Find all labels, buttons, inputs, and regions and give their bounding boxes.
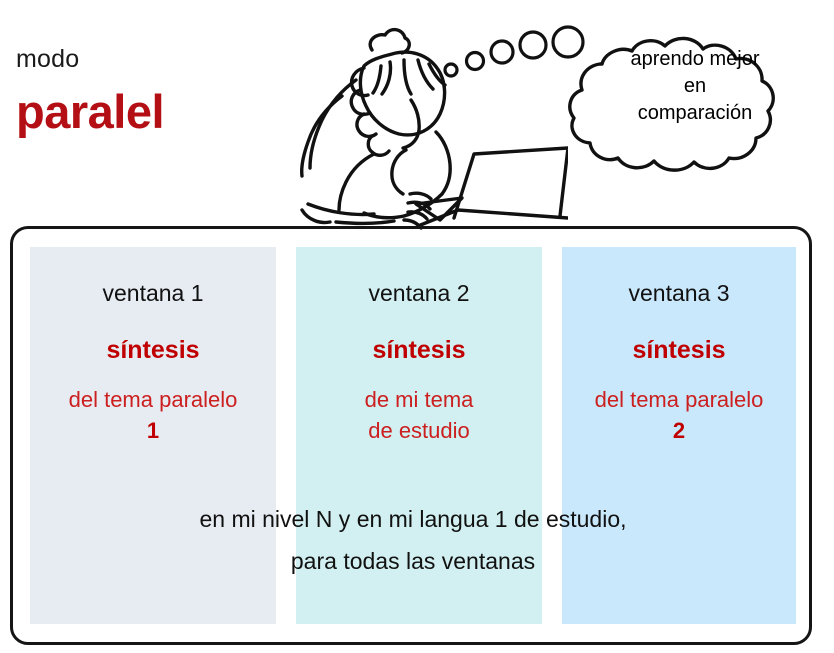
column-3-number: 2	[562, 415, 796, 446]
column-2-title: ventana 2	[296, 279, 542, 307]
mode-label: modo	[16, 44, 266, 74]
footer-note: en mi nivel N y en mi langua 1 de estudi…	[30, 498, 796, 582]
column-3-title: ventana 3	[562, 279, 796, 307]
column-2-description: de mi tema de estudio	[296, 384, 542, 446]
column-3-heading: síntesis	[562, 335, 796, 365]
column-1-description: del tema paralelo 1	[30, 384, 276, 446]
thought-bubble-line-3: comparación	[600, 100, 790, 127]
column-1-desc-line-1: del tema paralelo	[30, 384, 276, 415]
column-2-desc-line-1: de mi tema	[296, 384, 542, 415]
thought-bubble-text: aprendo mejor en comparación	[600, 46, 790, 127]
column-1-title: ventana 1	[30, 279, 276, 307]
header-area: modo paralel	[0, 0, 834, 226]
title-block: modo paralel	[16, 44, 266, 140]
thought-bubble-line-2: en	[600, 73, 790, 100]
footer-note-line-2: para todas las ventanas	[30, 540, 796, 582]
column-2-heading: síntesis	[296, 335, 542, 365]
column-2-desc-line-2: de estudio	[296, 415, 542, 446]
column-1-heading: síntesis	[30, 335, 276, 365]
column-3-description: del tema paralelo 2	[562, 384, 796, 446]
column-1-number: 1	[30, 415, 276, 446]
column-3-desc-line-1: del tema paralelo	[562, 384, 796, 415]
mode-name: paralel	[16, 84, 266, 140]
thought-bubble-line-1: aprendo mejor	[600, 46, 790, 73]
footer-note-line-1: en mi nivel N y en mi langua 1 de estudi…	[30, 498, 796, 540]
